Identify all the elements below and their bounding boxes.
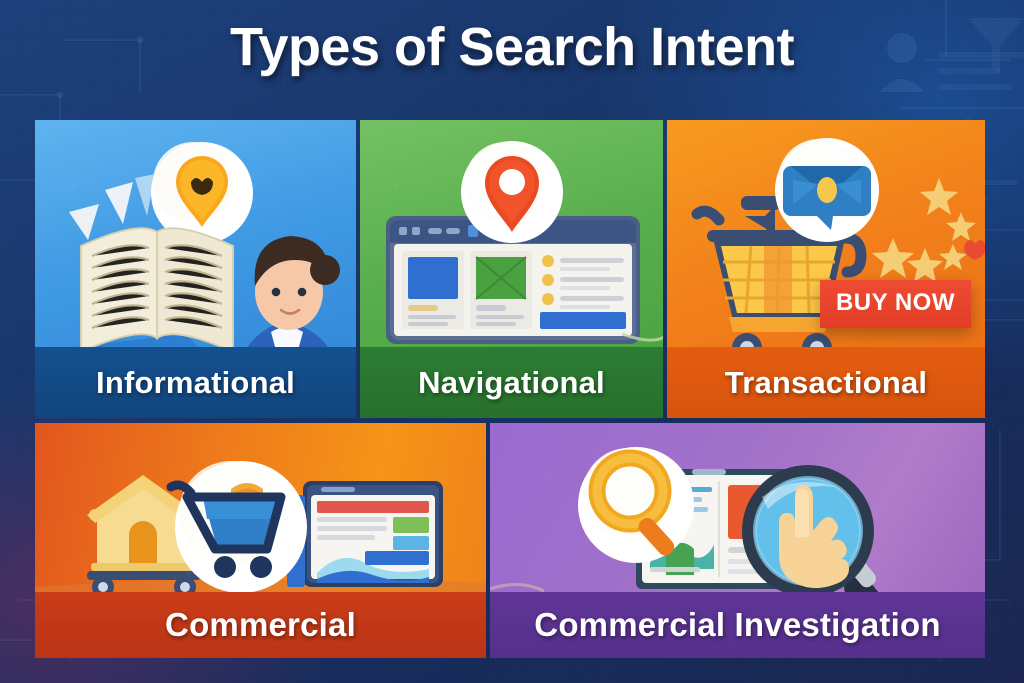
panel-commercial-label: Commercial — [35, 592, 486, 658]
open-book-icon — [81, 228, 233, 352]
magnifier-bubble-icon — [578, 447, 694, 563]
map-pin-bubble-icon — [461, 141, 563, 243]
panel-navigational-label: Navigational — [360, 347, 663, 418]
intent-grid: Informational — [35, 120, 985, 658]
infographic-canvas: Types of Search Intent — [0, 0, 1024, 683]
panel-commercial[interactable]: Commercial — [35, 423, 486, 658]
stars-icon — [872, 178, 976, 282]
panel-navigational[interactable]: Navigational — [360, 120, 663, 418]
grid-row-top: Informational — [35, 120, 985, 418]
buy-now-button[interactable]: BUY NOW — [820, 280, 971, 328]
grid-row-bottom: Commercial — [35, 423, 985, 658]
panel-informational-label: Informational — [35, 347, 356, 418]
tablet-browser-icon — [287, 481, 443, 587]
panel-transactional-label: Transactional — [667, 347, 985, 418]
panel-informational[interactable]: Informational — [35, 120, 356, 418]
panel-commercial-investigation-label: Commercial Investigation — [490, 592, 985, 658]
heart-icon — [964, 240, 985, 260]
panel-commercial-investigation[interactable]: Commercial Investigation — [490, 423, 985, 658]
page-title: Types of Search Intent — [0, 16, 1024, 78]
panel-transactional[interactable]: BUY NOW Transactional — [667, 120, 985, 418]
chat-envelope-bubble-icon — [775, 138, 879, 242]
